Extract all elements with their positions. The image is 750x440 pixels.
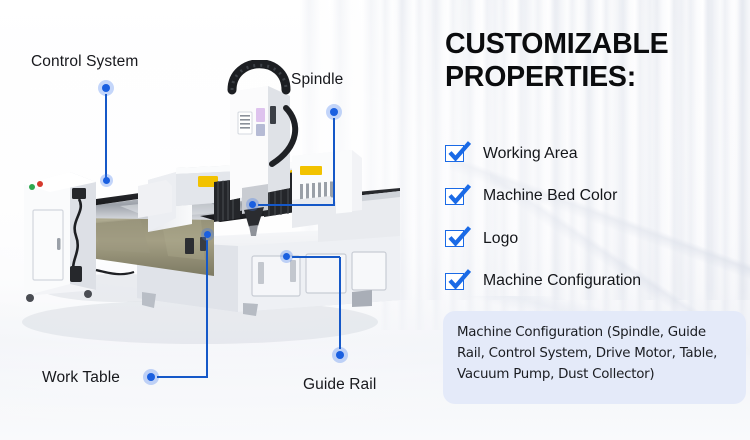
checkmark-icon <box>446 267 472 293</box>
list-item[interactable]: Machine Configuration <box>445 265 745 298</box>
checkbox-working-area[interactable] <box>445 145 464 162</box>
list-item-label: Working Area <box>483 145 578 163</box>
annotation-endpoint-work-table <box>201 228 214 241</box>
page-title-line1: CUSTOMIZABLE <box>445 28 745 61</box>
checkbox-logo[interactable] <box>445 230 464 247</box>
page-title: CUSTOMIZABLE PROPERTIES: <box>445 28 745 95</box>
checkmark-icon <box>446 224 472 250</box>
list-item[interactable]: Logo <box>445 222 745 255</box>
annotation-lead-spindle-vertical <box>333 118 335 206</box>
cnc-machine-illustration <box>0 60 420 390</box>
list-item[interactable]: Machine Bed Color <box>445 180 745 213</box>
annotation-dot-guide-rail[interactable] <box>332 347 348 363</box>
annotation-label-control-system: Control System <box>31 53 138 71</box>
list-item[interactable]: Working Area <box>445 137 745 170</box>
annotation-endpoint-guide-rail <box>280 250 293 263</box>
annotation-label-work-table: Work Table <box>42 369 120 387</box>
annotation-label-spindle: Spindle <box>291 71 343 89</box>
annotation-label-guide-rail: Guide Rail <box>303 376 376 394</box>
infographic-canvas: Control System Spindle Work Table Guide … <box>0 0 750 440</box>
annotation-endpoint-spindle <box>246 198 259 211</box>
checkmark-icon <box>446 139 472 165</box>
list-item-label: Logo <box>483 230 518 248</box>
properties-panel: CUSTOMIZABLE PROPERTIES: Working Area <box>443 0 750 440</box>
annotation-endpoint-control-system <box>100 174 113 187</box>
annotation-lead-control-system <box>105 94 107 178</box>
list-item-label: Machine Bed Color <box>483 187 617 205</box>
annotation-lead-guide-rail-vertical <box>339 257 341 349</box>
page-title-line2: PROPERTIES: <box>445 61 745 94</box>
list-item-label: Machine Configuration <box>483 272 641 290</box>
annotation-lead-spindle-horizontal <box>258 204 335 206</box>
annotation-lead-work-table-horizontal <box>157 376 208 378</box>
annotation-lead-work-table-vertical <box>206 240 208 377</box>
checkbox-machine-bed-color[interactable] <box>445 188 464 205</box>
checkbox-machine-configuration[interactable] <box>445 273 464 290</box>
machine-configuration-note: Machine Configuration (Spindle, Guide Ra… <box>443 311 746 404</box>
checkmark-icon <box>446 182 472 208</box>
machine-configuration-note-text: Machine Configuration (Spindle, Guide Ra… <box>457 322 732 386</box>
annotation-lead-guide-rail-horizontal <box>292 256 340 258</box>
customizable-properties-list: Working Area Machine Bed Color Logo <box>445 137 745 307</box>
